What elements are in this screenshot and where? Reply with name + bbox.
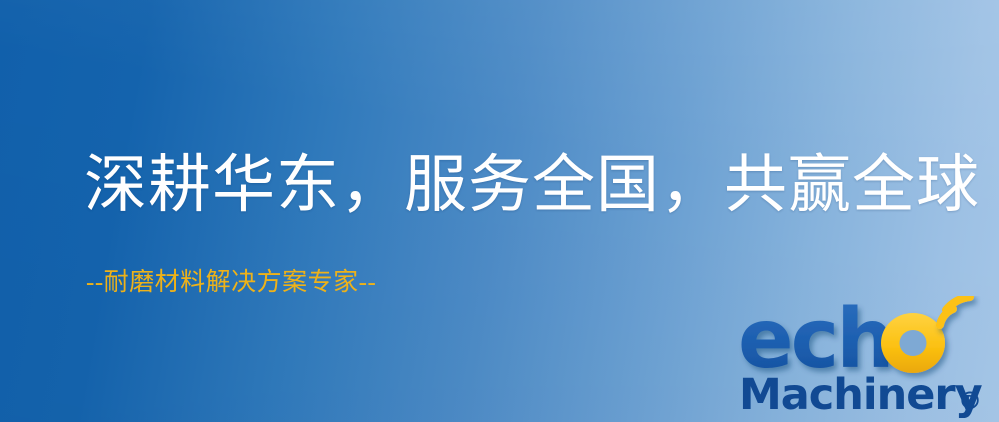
signal-waves-icon xyxy=(940,297,970,325)
page-title: 深耕华东，服务全国，共赢全球 xyxy=(84,152,980,219)
registered-trademark-symbol: ® xyxy=(958,387,982,415)
svg-text:Machinery: Machinery xyxy=(739,370,983,420)
subtitle-tagline: --耐磨材料解决方案专家-- xyxy=(86,268,376,298)
logo-brand-o xyxy=(881,313,945,373)
company-logo[interactable]: ech Machinery ® xyxy=(737,296,999,422)
logo-wordmark: Machinery ® xyxy=(739,370,983,420)
hero-banner: 深耕华东，服务全国，共赢全球 --耐磨材料解决方案专家-- xyxy=(0,0,999,422)
